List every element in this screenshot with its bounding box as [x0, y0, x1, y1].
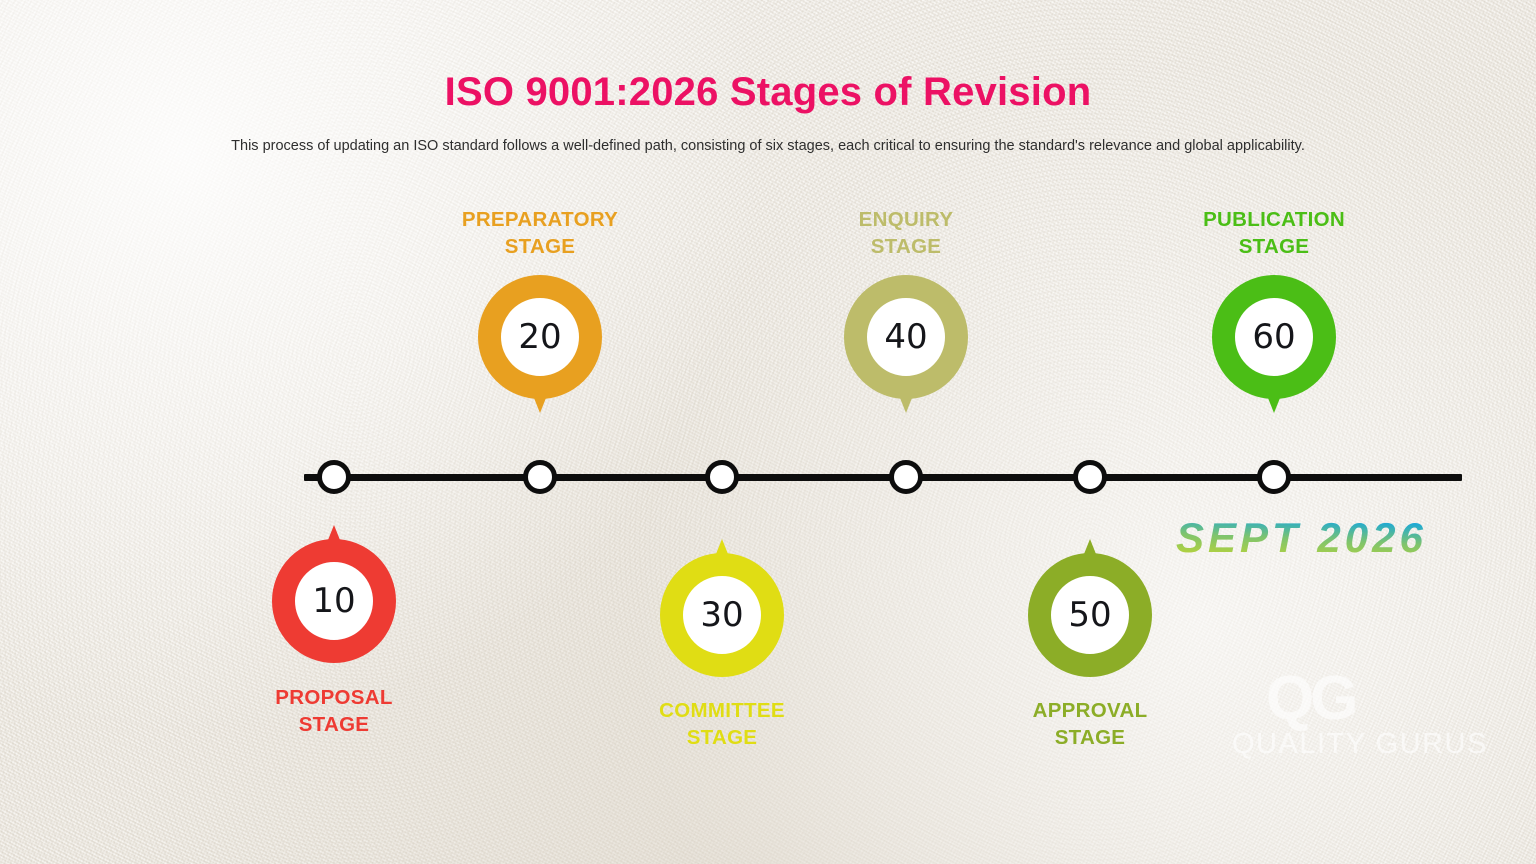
timeline-node-2[interactable]: [523, 460, 557, 494]
stage-label-approval-line2: STAGE: [940, 724, 1240, 751]
stage-pin-60[interactable]: 60: [1212, 275, 1336, 399]
stage-pin-40[interactable]: 40: [844, 275, 968, 399]
stage-label-committee-line1: COMMITTEE: [572, 697, 872, 724]
infographic-canvas: ISO 9001:2026 Stages of Revision This pr…: [0, 0, 1536, 864]
brand-watermark: QG QUALITY GURUS: [1232, 668, 1512, 783]
stage-label-publication-line1: PUBLICATION: [1124, 206, 1424, 233]
page-title: ISO 9001:2026 Stages of Revision: [0, 70, 1536, 115]
date-badge: SEPT 2026: [1168, 505, 1513, 565]
stage-label-publication-line2: STAGE: [1124, 233, 1424, 260]
stage-label-committee: COMMITTEE STAGE: [572, 697, 872, 752]
stage-pin-20[interactable]: 20: [478, 275, 602, 399]
timeline-node-6[interactable]: [1257, 460, 1291, 494]
timeline-node-4[interactable]: [889, 460, 923, 494]
stage-pin-10[interactable]: 10: [272, 539, 396, 663]
stage-label-proposal-line2: STAGE: [184, 711, 484, 738]
stage-label-enquiry-line2: STAGE: [756, 233, 1056, 260]
stage-pin-30[interactable]: 30: [660, 553, 784, 677]
pin-number-40: 40: [844, 275, 968, 399]
stage-label-approval: APPROVAL STAGE: [940, 697, 1240, 752]
stage-label-publication: PUBLICATION STAGE: [1124, 206, 1424, 261]
stage-label-enquiry: ENQUIRY STAGE: [756, 206, 1056, 261]
date-badge-text: SEPT 2026: [1176, 514, 1427, 561]
brand-wordmark: QUALITY GURUS: [1232, 730, 1488, 759]
pin-number-10: 10: [272, 539, 396, 663]
stage-label-preparatory: PREPARATORY STAGE: [390, 206, 690, 261]
pin-number-60: 60: [1212, 275, 1336, 399]
timeline-node-1[interactable]: [317, 460, 351, 494]
stage-label-preparatory-line2: STAGE: [390, 233, 690, 260]
page-subtitle: This process of updating an ISO standard…: [0, 138, 1536, 154]
pin-number-50: 50: [1028, 553, 1152, 677]
stage-label-committee-line2: STAGE: [572, 724, 872, 751]
stage-pin-50[interactable]: 50: [1028, 553, 1152, 677]
stage-label-enquiry-line1: ENQUIRY: [756, 206, 1056, 233]
stage-label-proposal-line1: PROPOSAL: [184, 684, 484, 711]
timeline-node-3[interactable]: [705, 460, 739, 494]
qg-logo-icon: QG: [1266, 668, 1354, 730]
stage-label-proposal: PROPOSAL STAGE: [184, 684, 484, 739]
stage-label-approval-line1: APPROVAL: [940, 697, 1240, 724]
timeline-node-5[interactable]: [1073, 460, 1107, 494]
stage-label-preparatory-line1: PREPARATORY: [390, 206, 690, 233]
pin-number-30: 30: [660, 553, 784, 677]
pin-number-20: 20: [478, 275, 602, 399]
